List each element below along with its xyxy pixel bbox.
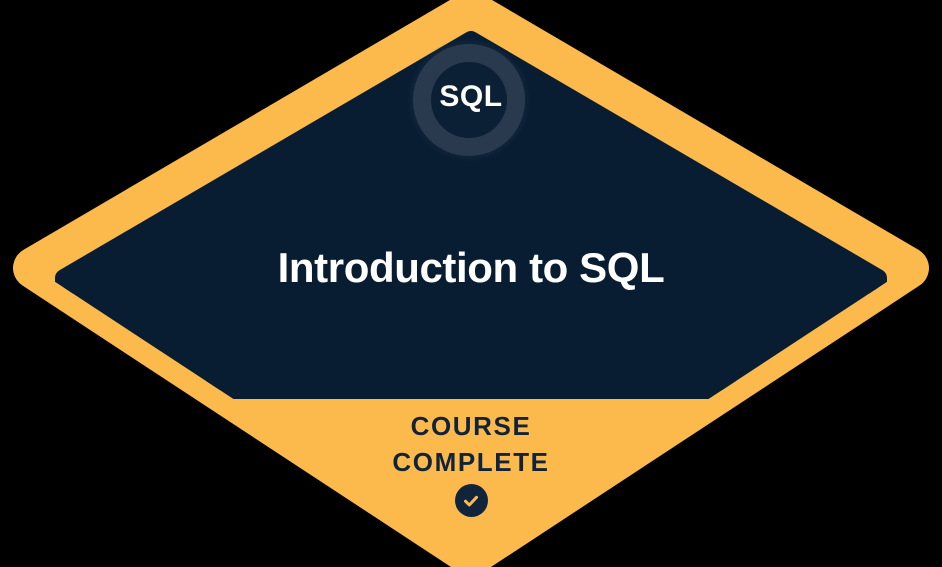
sql-emblem-center <box>431 62 507 138</box>
certificate-badge-canvas: SQL Introduction to SQL COURSE COMPLETE <box>0 0 942 567</box>
diamond-badge-graphic <box>0 0 942 567</box>
